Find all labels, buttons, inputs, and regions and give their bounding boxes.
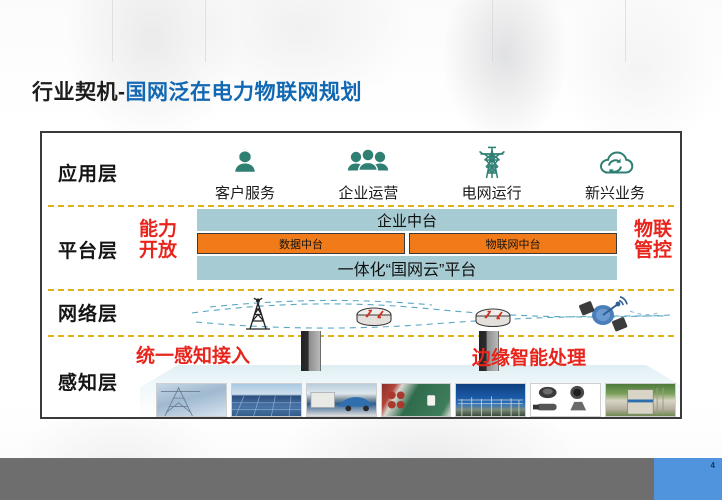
platform-left-note: 能力 开放	[139, 219, 177, 262]
solar-panel-photo	[231, 383, 302, 417]
platform-box-iot-midplatform[interactable]: 物联网中台	[409, 233, 617, 254]
app-item-customer-service[interactable]: 客户服务	[190, 144, 300, 203]
footer-accent-block: 4	[654, 458, 722, 500]
substation-night-photo	[455, 383, 526, 417]
background-line	[112, 0, 113, 62]
router-icon	[357, 308, 391, 326]
page-title-prefix: 行业契机-	[32, 81, 126, 104]
platform-right-note-line2: 管控	[634, 240, 672, 261]
application-icon-row: 客户服务 企业运营	[190, 137, 670, 203]
app-item-label: 企业运营	[338, 182, 398, 203]
transmission-tower-icon	[474, 144, 510, 180]
app-item-enterprise-operation[interactable]: 企业运营	[313, 144, 423, 203]
people-group-icon	[346, 144, 390, 180]
security-camera-photo	[530, 383, 601, 417]
architecture-diagram: 应用层 平台层 网络层 感知层 客户服务	[40, 131, 682, 419]
layer-label-perception: 感知层	[58, 368, 118, 395]
footer-bar: 4	[0, 458, 722, 500]
perception-photo-strip	[156, 383, 676, 417]
page-number: 4	[711, 461, 715, 470]
app-item-label: 电网运行	[462, 182, 522, 203]
page-title-highlight: 国网泛在电力物联网规划	[126, 81, 363, 104]
platform-left-note-line1: 能力	[139, 219, 177, 240]
perception-left-note: 统一感知接入	[136, 341, 250, 368]
field-cabinet-photo	[605, 383, 676, 417]
background-line	[625, 0, 626, 62]
platform-middle-row: 数据中台 物联网中台	[197, 233, 617, 254]
gateway-pillar	[301, 331, 321, 371]
app-item-emerging-business[interactable]: 新兴业务	[560, 144, 670, 203]
platform-right-note-line1: 物联	[634, 219, 672, 240]
page-title: 行业契机-国网泛在电力物联网规划	[32, 76, 362, 106]
background-line	[205, 0, 206, 62]
platform-box-data-midplatform[interactable]: 数据中台	[197, 233, 405, 254]
network-topology	[182, 291, 680, 335]
platform-stack: 企业中台 数据中台 物联网中台 一体化“国网云”平台	[197, 209, 617, 280]
app-item-label: 客户服务	[215, 182, 275, 203]
platform-right-note: 物联 管控	[634, 219, 672, 262]
app-item-grid-operation[interactable]: 电网运行	[437, 144, 547, 203]
platform-top-bar[interactable]: 企业中台	[197, 209, 617, 231]
cable-equipment-photo	[381, 383, 452, 417]
layer-label-platform: 平台层	[58, 236, 118, 263]
electric-vehicle-photo	[306, 383, 377, 417]
slide-canvas: 行业契机-国网泛在电力物联网规划 应用层 平台层 网络层 感知层	[0, 0, 722, 500]
satellite-dish-icon	[579, 297, 658, 332]
headset-agent-icon	[228, 144, 262, 180]
router-icon	[476, 309, 510, 327]
platform-bottom-bar[interactable]: 一体化“国网云”平台	[197, 256, 617, 280]
layer-label-network: 网络层	[58, 299, 118, 326]
background-line	[492, 0, 493, 62]
cloud-sync-icon	[594, 144, 636, 180]
platform-left-note-line2: 开放	[139, 240, 177, 261]
layer-divider	[48, 335, 674, 337]
layer-divider	[48, 205, 674, 207]
perception-right-note: 边缘智能处理	[472, 343, 586, 370]
layer-label-application: 应用层	[58, 159, 118, 186]
app-item-label: 新兴业务	[585, 182, 645, 203]
power-tower-photo	[156, 383, 227, 417]
